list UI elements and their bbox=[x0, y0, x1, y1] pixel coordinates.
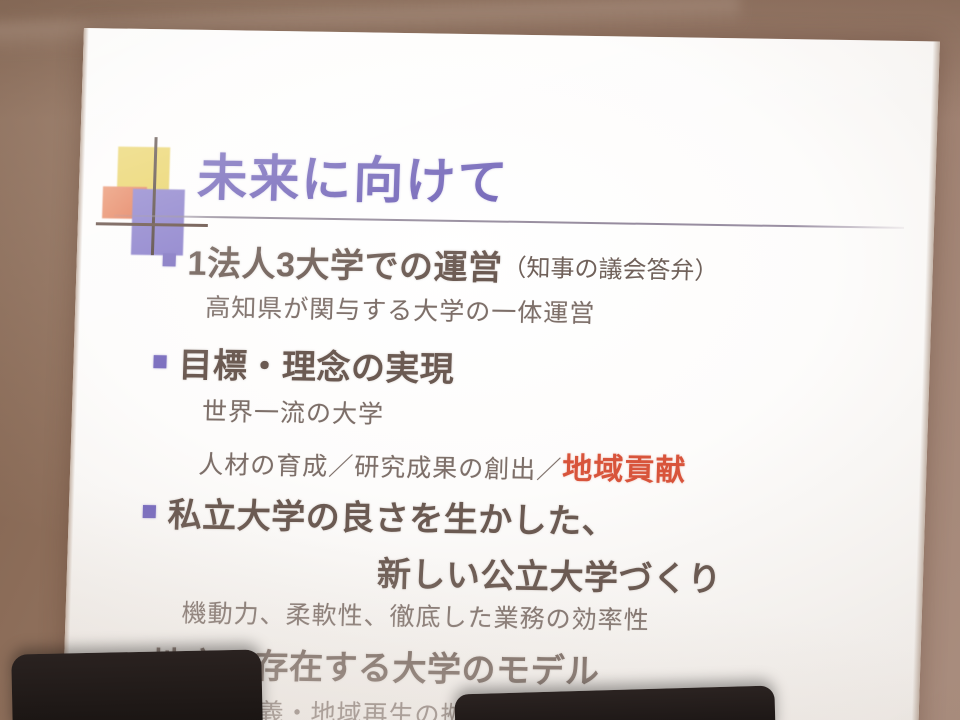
sub-item-2: 世界一流の大学 bbox=[201, 392, 384, 431]
bullet-item-2-label: 目標・理念の実現 bbox=[178, 338, 456, 391]
sub-item-3-label: 人材の育成／研究成果の創出／ bbox=[198, 451, 563, 485]
bullet-item-2: 目標・理念の実現 bbox=[153, 337, 456, 391]
title-divider bbox=[114, 214, 904, 228]
bullet-square-icon bbox=[143, 505, 156, 518]
projection-screen: 未来に向けて 1法人3大学での運営 （知事の議会答弁） 高知県が関与する大学の一… bbox=[62, 28, 940, 720]
bullet-item-3-label: 私立大学の良さを生かした、 bbox=[167, 487, 617, 543]
bullet-item-1-note: （知事の議会答弁） bbox=[502, 248, 719, 286]
bullet-item-3-continuation: 新しい公立大学づくり bbox=[376, 547, 722, 601]
bullet-square-icon bbox=[163, 253, 176, 266]
bullet-item-3: 私立大学の良さを生かした、 bbox=[142, 487, 617, 543]
sub-item-1: 高知県が関与する大学の一体運営 bbox=[205, 288, 596, 330]
sub-item-3: 人材の育成／研究成果の創出／地域貢献 bbox=[198, 438, 687, 490]
slide-title: 未来に向けて bbox=[196, 138, 510, 215]
presentation-slide: 未来に向けて 1法人3大学での運営 （知事の議会答弁） 高知県が関与する大学の一… bbox=[62, 28, 940, 720]
bullet-item-1-label: 1法人3大学での運営 bbox=[187, 236, 503, 290]
chair-back-left bbox=[11, 649, 263, 720]
photograph: 未来に向けて 1法人3大学での運営 （知事の議会答弁） 高知県が関与する大学の一… bbox=[0, 0, 960, 720]
bullet-item-1: 1法人3大学での運営 （知事の議会答弁） bbox=[162, 235, 719, 293]
bullet-square-icon bbox=[153, 355, 166, 368]
sub-item-3-accent: 地域貢献 bbox=[562, 453, 687, 488]
slide-logo-mark bbox=[101, 136, 201, 249]
sub-item-4: 機動力、柔軟性、徹底した業務の効率性 bbox=[181, 594, 650, 637]
